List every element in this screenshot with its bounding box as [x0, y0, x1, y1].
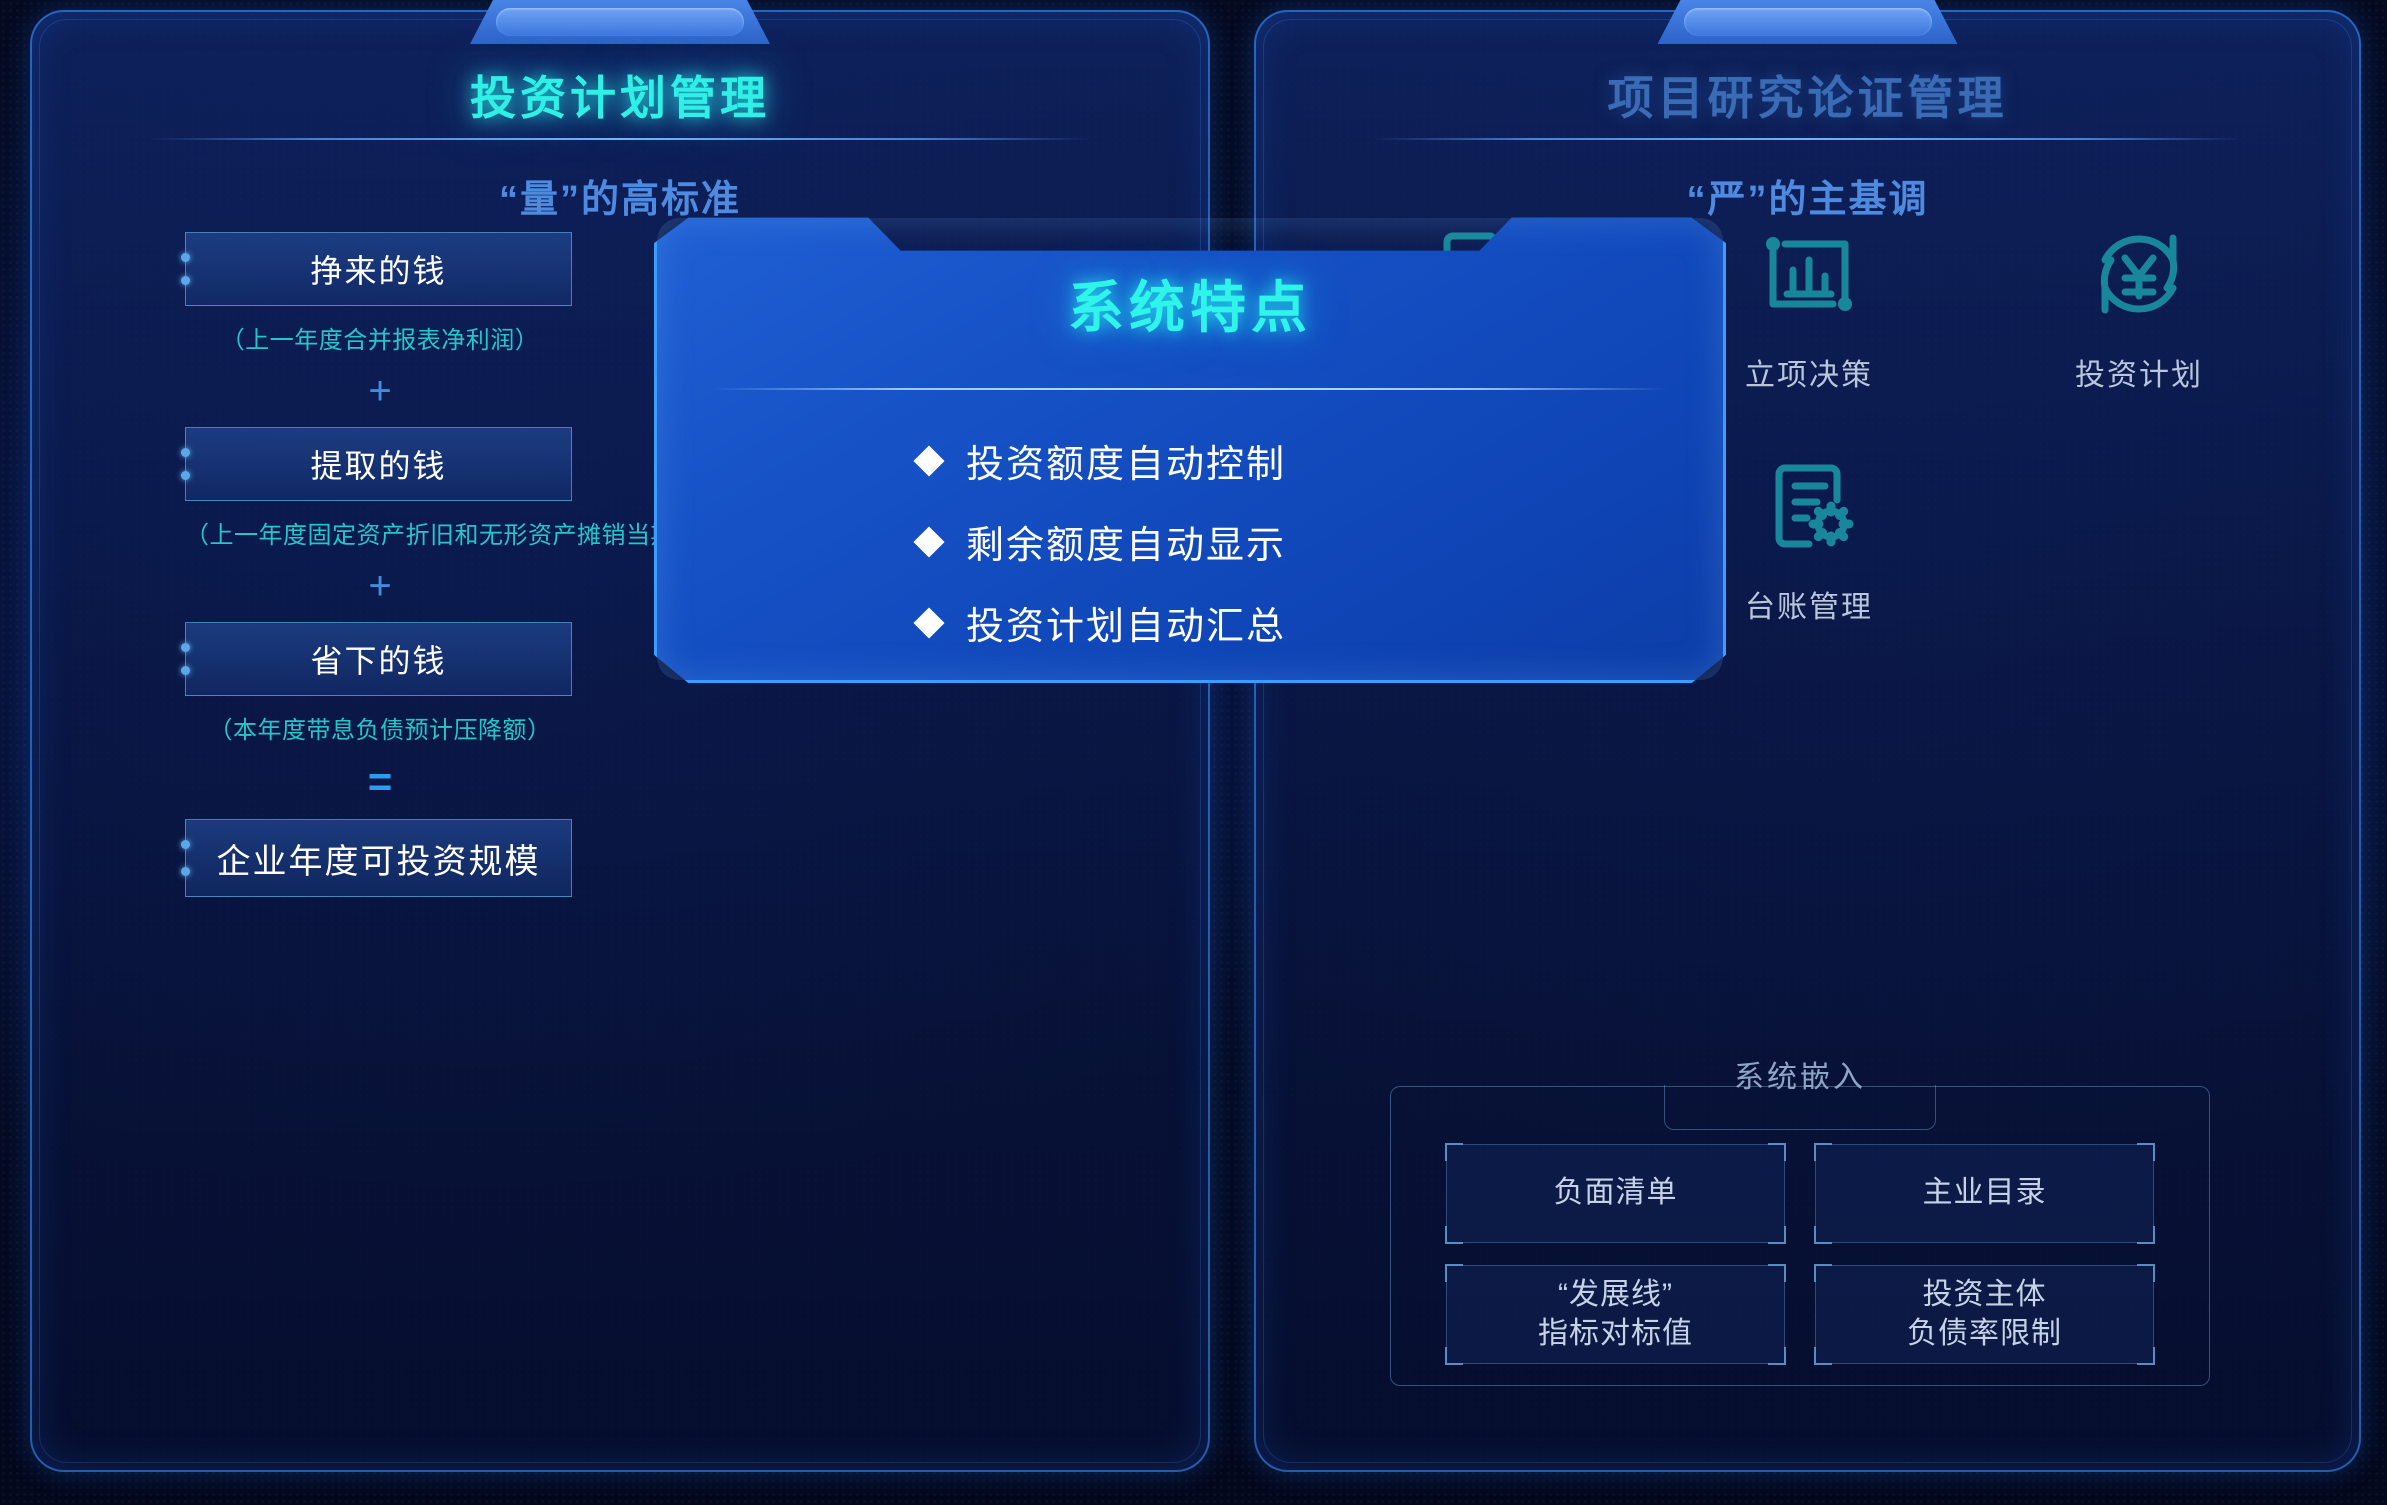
popup-feature-label: 投资计划自动汇总 — [966, 595, 1286, 650]
embed-cell-negative-list[interactable]: 负面清单 — [1446, 1144, 1785, 1243]
popup-title: 系统特点 — [654, 263, 1726, 344]
cell-edge — [1831, 1363, 2138, 1364]
cell-edge — [1462, 1363, 1769, 1364]
embed-cell-label-line1: “发展线” — [1538, 1276, 1693, 1314]
cell-edge — [1815, 1281, 1816, 1348]
panel-top-notch-right — [1658, 0, 1958, 44]
cell-edge — [1815, 1160, 1816, 1227]
popup-feature-list: 投资额度自动控制 剩余额度自动显示 投资计划自动汇总 — [654, 433, 1726, 650]
connector-dot-icon — [181, 666, 190, 675]
module-label: 立项决策 — [1745, 350, 1873, 394]
module-label: 投资计划 — [2075, 350, 2203, 394]
cell-edge — [1446, 1160, 1447, 1227]
system-embedding-grid: 负面清单 主业目录 — [1446, 1144, 2154, 1364]
embed-cell-label-line2: 负债率限制 — [1907, 1315, 2062, 1353]
bar-chart-icon — [1755, 220, 1863, 328]
corner-accent-icon — [2137, 1347, 2155, 1365]
system-features-popup[interactable]: 系统特点 投资额度自动控制 剩余额度自动显示 投资计划自动汇总 — [654, 215, 1726, 683]
flow-box-extracted-money[interactable]: 提取的钱 — [185, 427, 572, 501]
embed-cell-investor-debt-ratio-limit[interactable]: 投资主体 负债率限制 — [1815, 1265, 2154, 1364]
connector-dot-icon — [181, 643, 190, 652]
corner-accent-icon — [2137, 1143, 2155, 1161]
popup-feature-label: 剩余额度自动显示 — [966, 514, 1286, 569]
cell-edge — [1831, 1144, 2138, 1145]
corner-accent-icon — [1768, 1347, 1786, 1365]
left-panel-title: 投资计划管理 — [30, 62, 1210, 128]
corner-accent-icon — [2137, 1226, 2155, 1244]
corner-accent-icon — [1814, 1347, 1832, 1365]
corner-accent-icon — [1814, 1264, 1832, 1282]
flow-box-label: 提取的钱 — [310, 441, 446, 487]
right-panel-title: 项目研究论证管理 — [1254, 62, 2361, 128]
investment-scale-formula-flow: 挣来的钱 （上一年度合并报表净利润） + 提取的钱 （上一年度固定资产折旧和无形… — [185, 232, 575, 897]
panel-top-notch-left — [470, 0, 770, 44]
flow-box-earned-money[interactable]: 挣来的钱 — [185, 232, 572, 306]
corner-accent-icon — [1814, 1143, 1832, 1161]
embed-cell-label: 主业目录 — [1923, 1174, 2047, 1212]
module-investment-plan[interactable]: 投资计划 — [1974, 220, 2304, 394]
cell-edge — [1462, 1242, 1769, 1243]
corner-accent-icon — [1814, 1226, 1832, 1244]
flow-note-extracted-money: （上一年度固定资产折旧和无形资产摊销当期计提额） — [185, 515, 575, 550]
yen-refresh-icon — [2085, 220, 2193, 328]
system-embedding-title: 系统嵌入 — [1734, 1052, 1866, 1096]
corner-accent-icon — [1445, 1347, 1463, 1365]
flow-box-label: 企业年度可投资规模 — [217, 834, 541, 883]
embed-cell-main-business-catalog[interactable]: 主业目录 — [1815, 1144, 2154, 1243]
flow-box-label: 挣来的钱 — [310, 246, 446, 292]
connector-dot-icon — [181, 253, 190, 262]
corner-accent-icon — [1445, 1226, 1463, 1244]
flow-operator-equals: = — [185, 761, 575, 803]
module-grid-spacer — [1974, 452, 2304, 626]
popup-feature-label: 投资额度自动控制 — [966, 433, 1286, 488]
flow-note-earned-money: （上一年度合并报表净利润） — [185, 320, 575, 355]
flow-box-saved-money[interactable]: 省下的钱 — [185, 622, 572, 696]
embed-cell-label: 负面清单 — [1554, 1174, 1678, 1212]
flow-note-saved-money: （本年度带息负债预计压降额） — [185, 710, 575, 745]
system-embedding-section: 系统嵌入 负面清单 — [1390, 1086, 2210, 1386]
cell-edge — [2153, 1160, 2154, 1227]
cell-edge — [1784, 1160, 1785, 1227]
popup-title-divider — [712, 388, 1668, 390]
flow-operator-plus-2: + — [185, 566, 575, 606]
embed-cell-label-line1: 投资主体 — [1907, 1276, 2062, 1314]
flow-operator-plus-1: + — [185, 371, 575, 411]
corner-accent-icon — [1445, 1264, 1463, 1282]
connector-dot-icon — [181, 471, 190, 480]
embed-cell-development-line-benchmark[interactable]: “发展线” 指标对标值 — [1446, 1265, 1785, 1364]
slide-canvas: 投资计划管理 “量”的高标准 挣来的钱 （上一年度合并报表净利润） + 提取的钱… — [0, 0, 2387, 1505]
right-title-divider — [1374, 138, 2241, 140]
corner-accent-icon — [1768, 1226, 1786, 1244]
cell-edge — [1784, 1281, 1785, 1348]
connector-dot-icon — [181, 448, 190, 457]
diamond-bullet-icon — [913, 445, 944, 476]
corner-accent-icon — [2137, 1264, 2155, 1282]
diamond-bullet-icon — [913, 607, 944, 638]
cell-edge — [1446, 1281, 1447, 1348]
cell-edge — [1462, 1144, 1769, 1145]
corner-accent-icon — [1445, 1143, 1463, 1161]
connector-dot-icon — [181, 867, 190, 876]
popup-feature-item: 投资计划自动汇总 — [918, 595, 1726, 650]
embed-cell-label-line2: 指标对标值 — [1538, 1315, 1693, 1353]
document-gear-icon — [1755, 452, 1863, 560]
cell-edge — [1831, 1242, 2138, 1243]
module-label: 台账管理 — [1745, 582, 1873, 626]
cell-edge — [1462, 1265, 1769, 1266]
connector-dot-icon — [181, 840, 190, 849]
popup-feature-item: 剩余额度自动显示 — [918, 514, 1726, 569]
flow-box-label: 省下的钱 — [310, 636, 446, 682]
connector-dot-icon — [181, 276, 190, 285]
cell-edge — [2153, 1281, 2154, 1348]
corner-accent-icon — [1768, 1143, 1786, 1161]
flow-box-annual-investable-scale[interactable]: 企业年度可投资规模 — [185, 819, 572, 897]
left-title-divider — [150, 138, 1090, 140]
popup-feature-item: 投资额度自动控制 — [918, 433, 1726, 488]
cell-edge — [1831, 1265, 2138, 1266]
diamond-bullet-icon — [913, 526, 944, 557]
corner-accent-icon — [1768, 1264, 1786, 1282]
